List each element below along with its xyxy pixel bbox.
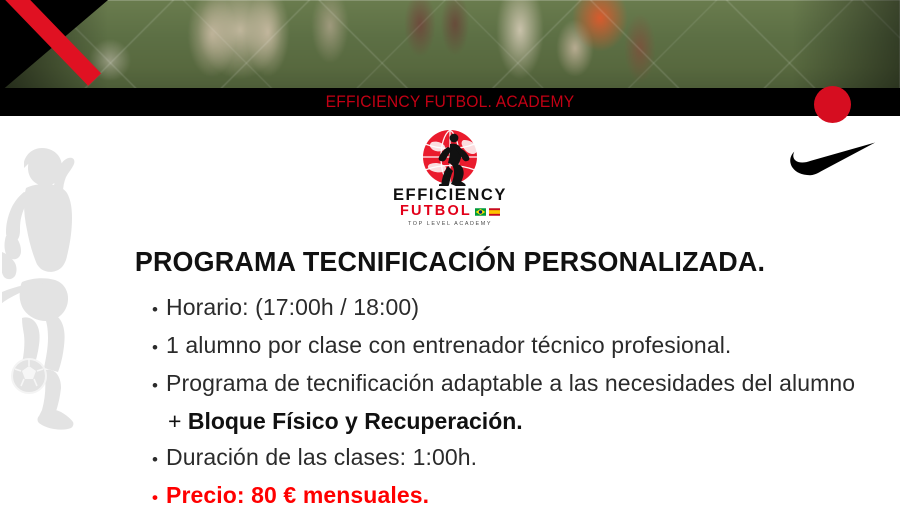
bullet-dot-icon: • xyxy=(152,370,166,401)
bullet-dot-icon: • xyxy=(152,444,166,475)
brazil-flag-icon xyxy=(475,208,486,216)
bullet-dot-icon: • xyxy=(152,294,166,325)
logo-name-bottom-row: FUTBOL xyxy=(392,204,508,219)
list-item: • Horario: (17:00h / 18:00) xyxy=(152,292,872,325)
bullet-dot-icon: • xyxy=(152,332,166,363)
soccer-player-watermark-icon xyxy=(2,132,134,432)
academy-logo: EFFICIENCY FUTBOL TOP LEVEL ACADEMY xyxy=(392,128,508,232)
list-item-label: Duración de las clases: 1:00h. xyxy=(166,442,477,473)
price-list-item: • Precio: 80 € mensuales. xyxy=(152,480,872,506)
plus-prefix: + xyxy=(168,408,188,434)
logo-globe-player-icon xyxy=(392,128,508,186)
list-item: • 1 alumno por clase con entrenador técn… xyxy=(152,330,872,363)
poster-canvas: EFFICIENCY FUTBOL. ACADEMY xyxy=(0,0,900,506)
list-item-label: Horario: (17:00h / 18:00) xyxy=(166,292,419,323)
banner-title: EFFICIENCY FUTBOL. ACADEMY xyxy=(36,88,864,116)
bullet-dot-icon: • xyxy=(152,482,166,506)
sub-line-label: Bloque Físico y Recuperación. xyxy=(188,408,523,434)
logo-name-top: EFFICIENCY xyxy=(392,187,508,204)
price-label: Precio: 80 € mensuales. xyxy=(166,480,429,506)
logo-name-bottom: FUTBOL xyxy=(400,204,472,219)
page-title: PROGRAMA TECNIFICACIÓN PERSONALIZADA. xyxy=(18,246,882,278)
list-item: • Programa de tecnificación adaptable a … xyxy=(152,368,872,401)
bullet-list: • Horario: (17:00h / 18:00) • 1 alumno p… xyxy=(152,292,872,506)
spain-flag-icon xyxy=(489,208,500,216)
list-item-continuation: + Bloque Físico y Recuperación. xyxy=(168,406,872,437)
corner-flash-decoration xyxy=(0,0,110,92)
soccer-ball-icon xyxy=(12,359,46,393)
nike-swoosh-icon xyxy=(785,142,877,176)
logo-tagline: TOP LEVEL ACADEMY xyxy=(392,221,508,227)
list-item-label: Programa de tecnificación adaptable a la… xyxy=(166,368,855,399)
list-item: • Duración de las clases: 1:00h. xyxy=(152,442,872,475)
red-dot-decoration xyxy=(814,86,851,123)
header-photo xyxy=(0,0,900,89)
list-item-label: 1 alumno por clase con entrenador técnic… xyxy=(166,330,731,361)
